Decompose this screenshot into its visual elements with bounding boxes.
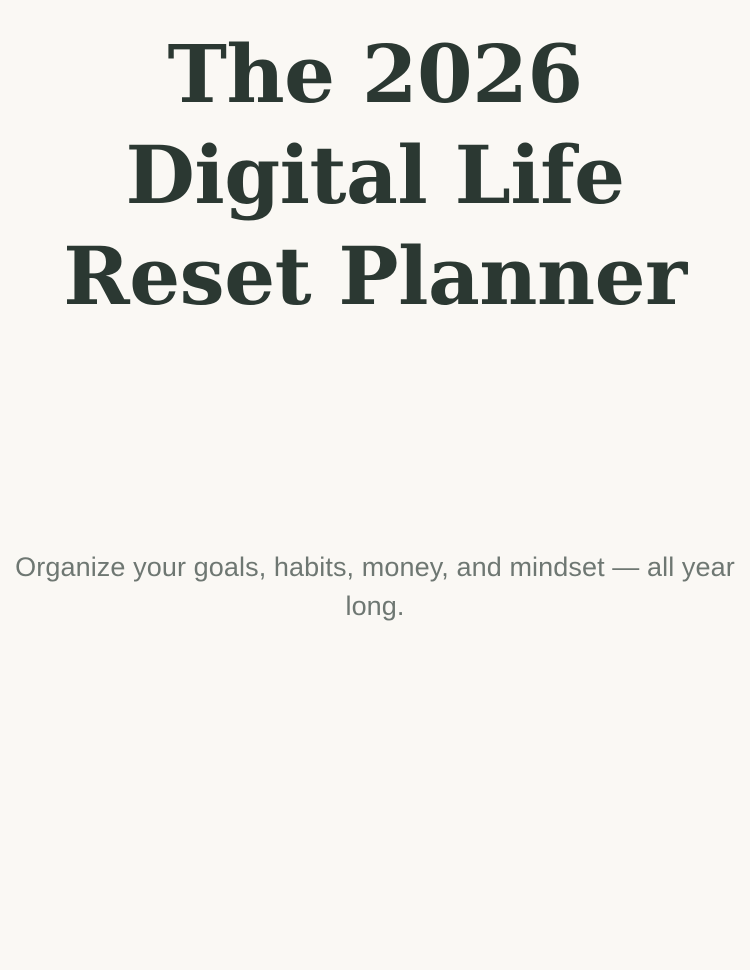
- page-subtitle: Organize your goals, habits, money, and …: [8, 548, 742, 626]
- page-title: The 2026 Digital Life Reset Planner: [8, 0, 742, 326]
- planner-cover-page: The 2026 Digital Life Reset Planner Orga…: [0, 0, 750, 970]
- title-subtitle-spacer: [8, 326, 742, 548]
- empty-content-area: [0, 626, 750, 970]
- hero-section: The 2026 Digital Life Reset Planner Orga…: [0, 0, 750, 626]
